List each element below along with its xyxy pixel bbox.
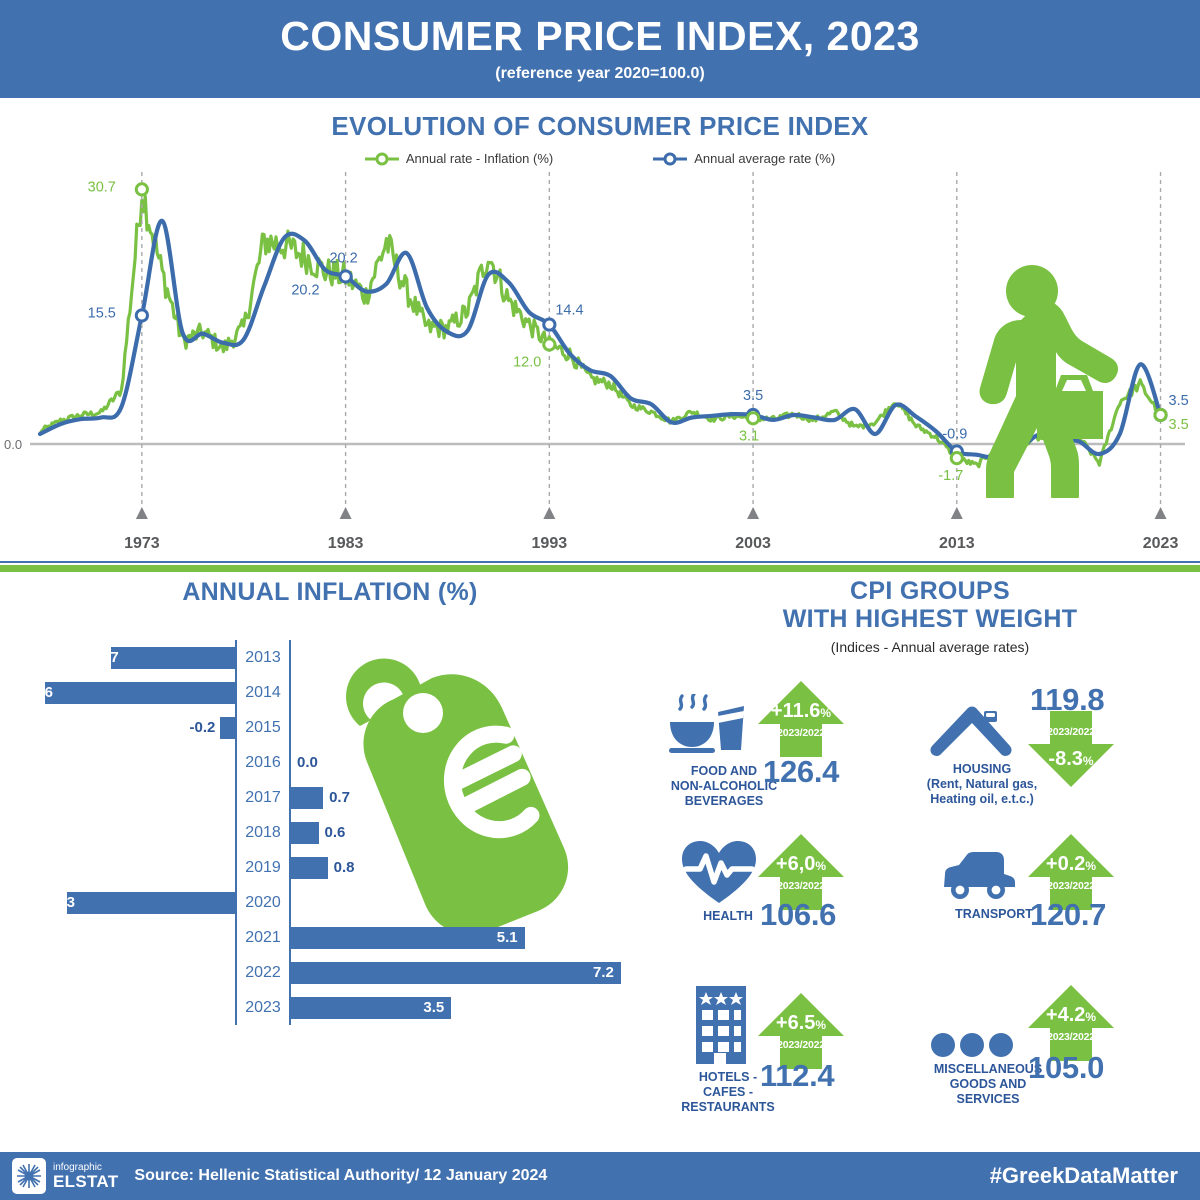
cpi-index-value: 120.7 <box>1030 897 1106 933</box>
cpi-index-value: 106.6 <box>760 897 836 933</box>
bar-positive-side <box>291 710 660 745</box>
bar-year-label: 2020 <box>235 885 291 920</box>
arrow-up-icon: +11.6%2023/2022 <box>756 678 846 760</box>
table-row: 20180.6 <box>0 815 660 850</box>
bar-positive-side <box>291 885 660 920</box>
bar-negative-side <box>0 990 235 1025</box>
bar-negative-side: -2.6 <box>0 675 235 710</box>
bar-value-label: -1.7 <box>93 649 119 666</box>
table-row: -1.72013 <box>0 640 660 675</box>
footer-source-text: Source: Hellenic Statistical Authority/ … <box>134 1167 547 1185</box>
cpi-group-card: HOUSING(Rent, Natural gas,Heating oil, e… <box>930 676 1200 829</box>
svg-text:1973: 1973 <box>124 535 160 552</box>
bar-year-label: 2016 <box>235 745 291 780</box>
bar-value-label: 0.0 <box>297 754 318 771</box>
bar-year-label: 2015 <box>235 710 291 745</box>
svg-text:3.5: 3.5 <box>743 388 763 404</box>
table-row: 20170.7 <box>0 780 660 815</box>
cpi-group-name-line: BEVERAGES <box>654 794 794 809</box>
bar-value-label: -2.3 <box>49 894 75 911</box>
bar-year-label: 2013 <box>235 640 291 675</box>
svg-text:3.1: 3.1 <box>739 428 759 444</box>
bar-value-label: -0.2 <box>190 719 216 736</box>
table-row: 20160.0 <box>0 745 660 780</box>
annual-inflation-title: ANNUAL INFLATION (%) <box>0 578 660 607</box>
soup-bowl-icon <box>668 694 746 759</box>
page-subtitle: (reference year 2020=100.0) <box>495 65 705 83</box>
svg-text:2003: 2003 <box>735 535 771 552</box>
table-row: 20215.1 <box>0 920 660 955</box>
bar-year-label: 2014 <box>235 675 291 710</box>
bar-year-label: 2019 <box>235 850 291 885</box>
bar-negative-side: -1.7 <box>0 640 235 675</box>
bar-positive[interactable] <box>291 787 323 809</box>
table-row: 20233.5 <box>0 990 660 1025</box>
elstat-star-icon <box>16 1163 42 1189</box>
bar-value-label: 5.1 <box>497 929 518 946</box>
bar-value-label: 0.8 <box>334 859 355 876</box>
bar-negative-side <box>0 780 235 815</box>
house-roof-icon <box>926 698 1014 763</box>
svg-text:1983: 1983 <box>328 535 364 552</box>
bar-negative-side <box>0 955 235 990</box>
bar-negative-side <box>0 815 235 850</box>
cpi-group-name-line: Heating oil, e.t.c.) <box>912 792 1052 807</box>
bar-negative-side <box>0 850 235 885</box>
cpi-group-card: TRANSPORT+0.2%2023/2022120.7 <box>930 829 1200 982</box>
bar-year-label: 2017 <box>235 780 291 815</box>
section-divider-blue <box>0 561 1200 563</box>
cpi-groups-grid: FOOD ANDNON-ALCOHOLICBEVERAGES+11.6%2023… <box>660 676 1200 1136</box>
bar-positive-side: 0.0 <box>291 745 660 780</box>
bar-year-label: 2023 <box>235 990 291 1025</box>
cpi-group-card: HEALTH+6,0%2023/2022106.6 <box>660 829 930 982</box>
shopper-person-icon <box>925 263 1125 498</box>
cpi-groups-subtitle: (Indices - Annual average rates) <box>660 639 1200 655</box>
svg-text:30.7: 30.7 <box>88 179 116 195</box>
svg-text:20.2: 20.2 <box>329 250 357 266</box>
svg-text:20.2: 20.2 <box>291 282 319 298</box>
cpi-index-value: 105.0 <box>1028 1050 1104 1086</box>
line-chart-title: EVOLUTION OF CONSUMER PRICE INDEX <box>0 98 1200 142</box>
svg-text:12.0: 12.0 <box>513 354 541 370</box>
svg-text:0.0: 0.0 <box>4 437 22 452</box>
bar-negative-side <box>0 920 235 955</box>
cpi-index-value: 126.4 <box>763 754 839 790</box>
cpi-groups-title-line1: CPI GROUPS <box>660 578 1200 606</box>
svg-text:3.5: 3.5 <box>1169 417 1189 433</box>
bar-positive[interactable] <box>291 927 525 949</box>
bar-positive-side <box>291 675 660 710</box>
elstat-wordmark: infographic ELSTAT <box>53 1163 118 1190</box>
cpi-group-card: MISCELLANEOUSGOODS AND SERVICES+4.2%2023… <box>930 982 1200 1135</box>
bar-value-label: 7.2 <box>593 964 614 981</box>
table-row: 20227.2 <box>0 955 660 990</box>
bar-year-label: 2022 <box>235 955 291 990</box>
cpi-index-value: 119.8 <box>1030 682 1104 718</box>
bar-positive-side <box>291 640 660 675</box>
svg-text:3.5: 3.5 <box>1169 393 1189 409</box>
page-header: CONSUMER PRICE INDEX, 2023 (reference ye… <box>0 0 1200 98</box>
bar-negative-side <box>0 745 235 780</box>
bar-positive-side: 0.7 <box>291 780 660 815</box>
bar-positive-side: 3.5 <box>291 990 660 1025</box>
bar-positive[interactable] <box>291 822 319 844</box>
cpi-groups-title: CPI GROUPS WITH HIGHEST WEIGHT <box>660 578 1200 633</box>
table-row: -2.62014 <box>0 675 660 710</box>
bar-positive-side: 5.1 <box>291 920 660 955</box>
bar-negative[interactable] <box>111 647 235 669</box>
lower-sections: ANNUAL INFLATION (%) -1.72013-2.62014-0.… <box>0 578 1200 1136</box>
elstat-infographic-label: infographic <box>53 1163 118 1173</box>
bar-negative[interactable] <box>220 717 235 739</box>
svg-text:2023: 2023 <box>1143 535 1179 552</box>
svg-text:1993: 1993 <box>532 535 568 552</box>
bar-value-label: -2.6 <box>27 684 53 701</box>
footer-hashtag: #GreekDataMatter <box>990 1163 1178 1189</box>
bar-negative[interactable] <box>67 892 235 914</box>
cpi-group-card: HOTELS -CAFES -RESTAURANTS+6.5%2023/2022… <box>660 982 930 1135</box>
bar-negative-side: -2.3 <box>0 885 235 920</box>
hotel-building-icon <box>688 984 754 1069</box>
cpi-group-name-line: RESTAURANTS <box>658 1100 798 1115</box>
bar-year-label: 2021 <box>235 920 291 955</box>
annual-inflation-panel: ANNUAL INFLATION (%) -1.72013-2.62014-0.… <box>0 578 660 1136</box>
cpi-groups-panel: CPI GROUPS WITH HIGHEST WEIGHT (Indices … <box>660 578 1200 1136</box>
bar-value-label: 3.5 <box>423 999 444 1016</box>
bar-positive-side: 0.8 <box>291 850 660 885</box>
page-title: CONSUMER PRICE INDEX, 2023 <box>280 15 920 58</box>
elstat-logo-icon <box>12 1158 46 1194</box>
table-row: 20190.8 <box>0 850 660 885</box>
bar-positive-side: 7.2 <box>291 955 660 990</box>
page-footer: infographic ELSTAT Source: Hellenic Stat… <box>0 1152 1200 1200</box>
svg-text:14.4: 14.4 <box>555 303 583 319</box>
annual-inflation-barchart: -1.72013-2.62014-0.2201520160.020170.720… <box>0 640 660 1130</box>
cpi-groups-title-line2: WITH HIGHEST WEIGHT <box>660 606 1200 634</box>
table-row: -2.32020 <box>0 885 660 920</box>
svg-text:15.5: 15.5 <box>88 305 116 321</box>
section-divider-green <box>0 565 1200 572</box>
line-chart-section: EVOLUTION OF CONSUMER PRICE INDEX Annual… <box>0 98 1200 566</box>
bar-negative-side: -0.2 <box>0 710 235 745</box>
three-dots-icon <box>930 1032 1014 1063</box>
cpi-index-value: 112.4 <box>760 1058 834 1094</box>
bar-positive[interactable] <box>291 962 621 984</box>
cpi-group-card: FOOD ANDNON-ALCOHOLICBEVERAGES+11.6%2023… <box>660 676 930 829</box>
arrow-down-icon: -8.3%2023/2022 <box>1026 708 1116 790</box>
bar-year-label: 2018 <box>235 815 291 850</box>
bar-positive[interactable] <box>291 857 328 879</box>
elstat-name-label: ELSTAT <box>53 1173 118 1190</box>
bar-value-label: 0.6 <box>325 824 346 841</box>
heart-pulse-icon <box>680 839 758 910</box>
car-icon <box>938 849 1024 906</box>
bar-value-label: 0.7 <box>329 789 350 806</box>
table-row: -0.22015 <box>0 710 660 745</box>
bar-positive-side: 0.6 <box>291 815 660 850</box>
svg-text:2013: 2013 <box>939 535 975 552</box>
bar-negative[interactable] <box>45 682 235 704</box>
